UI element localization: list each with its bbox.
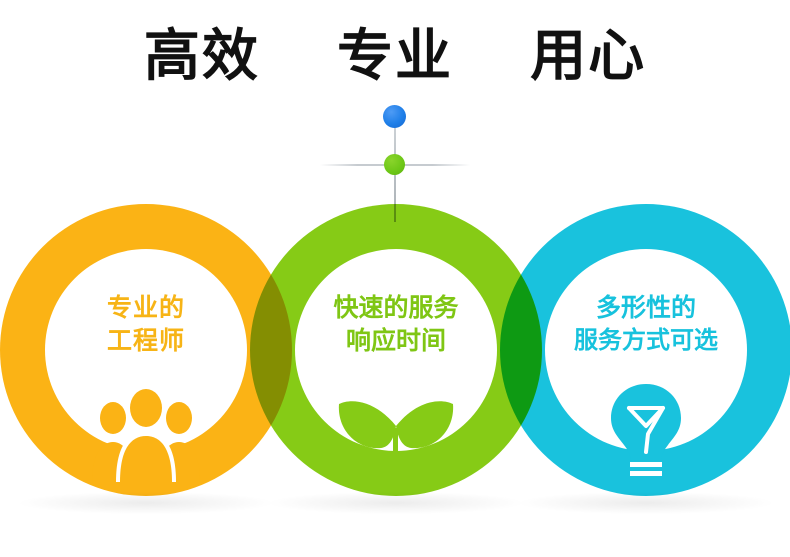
ring-engineers[interactable]	[0, 204, 292, 496]
ring-service-options[interactable]	[500, 204, 790, 496]
venn-rings	[0, 0, 790, 557]
ring-response-time[interactable]	[250, 204, 542, 496]
poster-canvas: 高效 专业 用心 专业的 工程师	[0, 0, 790, 557]
